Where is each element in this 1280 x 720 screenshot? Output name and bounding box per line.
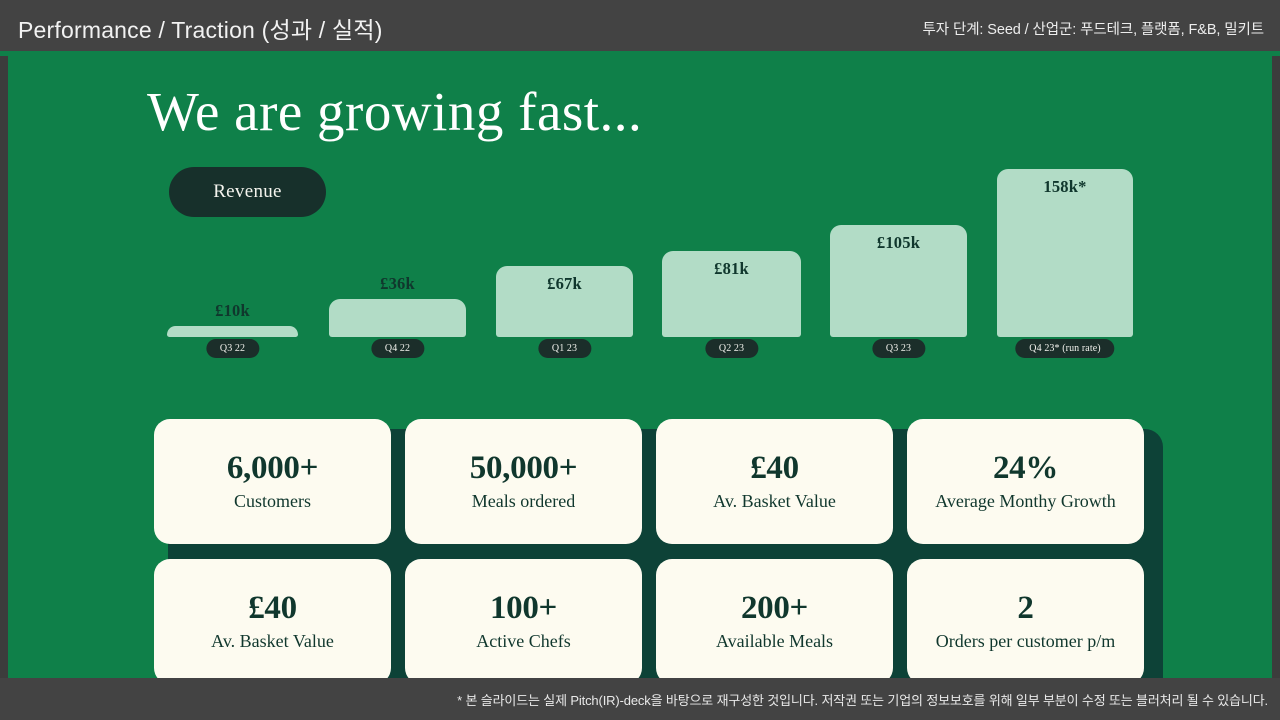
stat-label: Meals ordered bbox=[472, 490, 575, 512]
stat-value: 100+ bbox=[490, 591, 557, 627]
bar-value-label: £67k bbox=[496, 274, 633, 294]
stat-card: 24%Average Monthy Growth bbox=[907, 419, 1144, 544]
stat-value: £40 bbox=[248, 591, 297, 627]
bar-category-label: Q1 23 bbox=[538, 339, 591, 358]
stat-card: £40Av. Basket Value bbox=[656, 419, 893, 544]
footer-disclaimer: * 본 슬라이드는 실제 Pitch(IR)-deck을 바탕으로 재구성한 것… bbox=[457, 690, 1268, 709]
bar-group: £105kQ3 23 bbox=[830, 336, 967, 337]
stat-card: 6,000+Customers bbox=[154, 419, 391, 544]
slide-root: Performance / Traction (성과 / 실적) 투자 단계: … bbox=[0, 0, 1280, 720]
bar-value-label: £10k bbox=[167, 301, 298, 321]
stat-value: 24% bbox=[993, 451, 1058, 487]
stat-label: Customers bbox=[234, 490, 311, 512]
chart-bar: £67k bbox=[496, 266, 633, 337]
bar-category-label: Q3 22 bbox=[206, 339, 259, 358]
stat-card: 50,000+Meals ordered bbox=[405, 419, 642, 544]
bar-value-label: 158k* bbox=[997, 177, 1133, 197]
chart-bar: 158k* bbox=[997, 169, 1133, 337]
chart-bar: £105k bbox=[830, 225, 967, 337]
stat-card: 2Orders per customer p/m bbox=[907, 559, 1144, 678]
header-meta-text: 투자 단계: Seed / 산업군: 푸드테크, 플랫폼, F&B, 밀키트 bbox=[923, 18, 1264, 39]
page-title: Performance / Traction (성과 / 실적) bbox=[18, 11, 383, 45]
stat-value: 6,000+ bbox=[227, 451, 318, 487]
bar-group: £10kQ3 22 bbox=[167, 336, 298, 337]
stat-label: Orders per customer p/m bbox=[936, 630, 1115, 652]
stat-label: Active Chefs bbox=[476, 630, 570, 652]
bar-value-label: £81k bbox=[662, 259, 801, 279]
bar-group: £36kQ4 22 bbox=[329, 336, 466, 337]
bar-group: 158k*Q4 23* (run rate) bbox=[997, 336, 1133, 337]
stat-cards-grid: 6,000+Customers50,000+Meals ordered£40Av… bbox=[154, 419, 1154, 678]
revenue-bar-chart: £10kQ3 22£36kQ4 22£67kQ1 23£81kQ2 23£105… bbox=[8, 56, 1272, 356]
stat-card: 100+Active Chefs bbox=[405, 559, 642, 678]
bar-category-label: Q2 23 bbox=[705, 339, 758, 358]
bar-value-label: £105k bbox=[830, 233, 967, 253]
bar-group: £67kQ1 23 bbox=[496, 336, 633, 337]
stat-label: Av. Basket Value bbox=[713, 490, 836, 512]
stat-value: 200+ bbox=[741, 591, 808, 627]
stat-label: Available Meals bbox=[716, 630, 833, 652]
stat-value: £40 bbox=[750, 451, 799, 487]
chart-bar: £81k bbox=[662, 251, 801, 337]
stat-label: Av. Basket Value bbox=[211, 630, 334, 652]
stat-value: 50,000+ bbox=[470, 451, 577, 487]
stat-label: Average Monthy Growth bbox=[935, 490, 1116, 512]
slide-canvas: We are growing fast... Revenue £10kQ3 22… bbox=[8, 56, 1272, 678]
chart-bar: £10k bbox=[167, 326, 298, 337]
stat-card: 200+Available Meals bbox=[656, 559, 893, 678]
bar-category-label: Q3 23 bbox=[872, 339, 925, 358]
bar-category-label: Q4 22 bbox=[371, 339, 424, 358]
chart-bar: £36k bbox=[329, 299, 466, 337]
bar-group: £81kQ2 23 bbox=[662, 336, 801, 337]
bar-value-label: £36k bbox=[329, 274, 466, 294]
bar-category-label: Q4 23* (run rate) bbox=[1015, 339, 1114, 358]
top-header-bar: Performance / Traction (성과 / 실적) 투자 단계: … bbox=[0, 0, 1280, 56]
stat-card: £40Av. Basket Value bbox=[154, 559, 391, 678]
bottom-footer-bar: * 본 슬라이드는 실제 Pitch(IR)-deck을 바탕으로 재구성한 것… bbox=[0, 678, 1280, 720]
stat-value: 2 bbox=[1017, 591, 1033, 627]
